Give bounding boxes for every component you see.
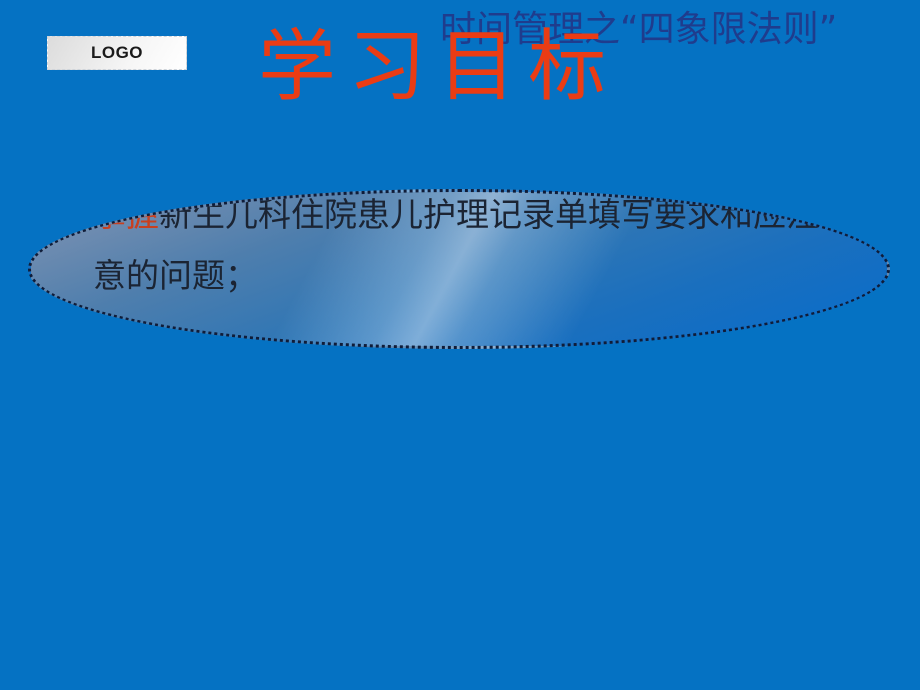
objective-body-text: 新生儿科住院患儿护理记录单填写要求和应注意的问题； [93, 198, 819, 295]
learning-objective-callout: 掌握新生儿科住院患儿护理记录单填写要求和应注意的问题； [28, 189, 890, 349]
objective-accent-word: 掌握 [93, 198, 159, 234]
learning-objective-text: 掌握新生儿科住院患儿护理记录单填写要求和应注意的问题； [93, 189, 833, 308]
slide-title: 学习目标 [258, 28, 618, 106]
logo-placeholder: LOGO [47, 36, 187, 70]
presentation-slide: LOGO 时间管理之“四象限法则” 学习目标 掌握新生儿科住院患儿护理记录单填写… [0, 0, 920, 690]
logo-label: LOGO [91, 43, 143, 63]
